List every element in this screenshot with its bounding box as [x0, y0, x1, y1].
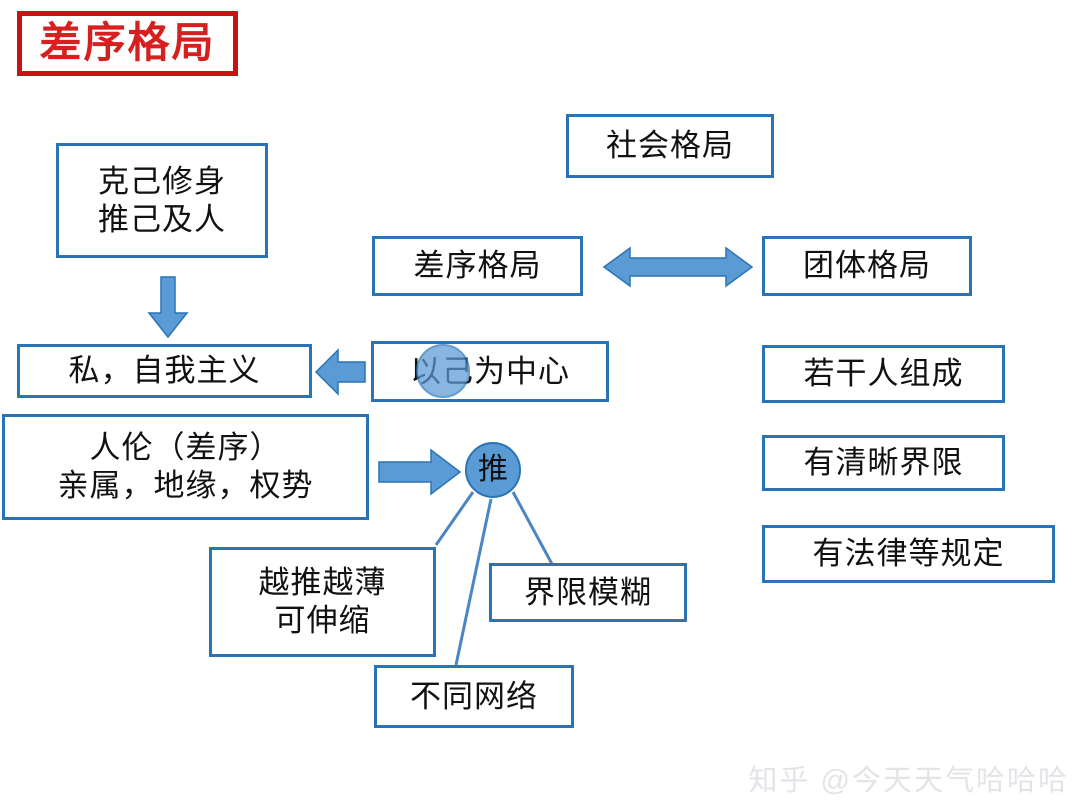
node-thinner-line2: 可伸缩 — [275, 602, 371, 640]
node-differential-pattern[interactable]: 差序格局 — [372, 236, 583, 296]
arrow-left-selfcentered-to-selfishness — [316, 348, 366, 396]
node-clear-boundary-label: 有清晰界限 — [804, 444, 964, 482]
node-self-centered[interactable]: 以己为中心 — [371, 341, 609, 402]
arrow-right-humanrelations-to-push — [379, 448, 461, 496]
node-social-pattern-label: 社会格局 — [606, 127, 734, 165]
node-several-people-label: 若干人组成 — [804, 355, 964, 393]
node-legal-rules[interactable]: 有法律等规定 — [762, 525, 1055, 583]
node-different-networks-label: 不同网络 — [410, 678, 538, 716]
node-legal-rules-label: 有法律等规定 — [813, 535, 1005, 573]
watermark-text: 知乎 @今天天气哈哈哈 — [749, 765, 1070, 797]
node-group-pattern-label: 团体格局 — [803, 247, 931, 285]
node-several-people[interactable]: 若干人组成 — [762, 345, 1005, 403]
node-thinner[interactable]: 越推越薄 可伸缩 — [209, 547, 436, 657]
node-human-relations-line2: 亲属，地缘，权势 — [58, 467, 314, 505]
node-blurred-boundary[interactable]: 界限模糊 — [489, 563, 687, 622]
node-clear-boundary[interactable]: 有清晰界限 — [762, 435, 1005, 491]
node-self-cultivation-line1: 克己修身 — [98, 163, 226, 201]
node-selfishness[interactable]: 私，自我主义 — [17, 344, 312, 398]
node-push-circle[interactable]: 推 — [465, 442, 521, 498]
node-blurred-boundary-label: 界限模糊 — [524, 574, 652, 612]
node-human-relations[interactable]: 人伦（差序） 亲属，地缘，权势 — [2, 414, 369, 520]
node-thinner-line1: 越推越薄 — [259, 564, 387, 602]
node-selfishness-label: 私，自我主义 — [69, 352, 261, 390]
watermark: 知乎 @今天天气哈哈哈 — [749, 757, 1070, 799]
node-push-circle-label: 推 — [478, 455, 508, 485]
node-different-networks[interactable]: 不同网络 — [374, 665, 574, 728]
node-human-relations-line1: 人伦（差序） — [90, 429, 282, 467]
arrow-double-differential-group — [604, 246, 752, 288]
node-group-pattern[interactable]: 团体格局 — [762, 236, 972, 296]
node-self-cultivation[interactable]: 克己修身 推己及人 — [56, 143, 268, 258]
page-title: 差序格局 — [17, 11, 238, 76]
node-social-pattern[interactable]: 社会格局 — [566, 114, 774, 178]
page-title-text: 差序格局 — [39, 23, 215, 65]
node-self-cultivation-line2: 推己及人 — [98, 201, 226, 239]
highlight-circle-ji — [416, 344, 470, 398]
node-differential-pattern-label: 差序格局 — [414, 247, 542, 285]
diagram-canvas: 差序格局 克己修身 推己及人 私，自我主义 人伦（差序） 亲属，地缘，权势 社会… — [0, 0, 1083, 811]
arrow-down-self-cultivation-to-selfishness — [148, 277, 188, 339]
